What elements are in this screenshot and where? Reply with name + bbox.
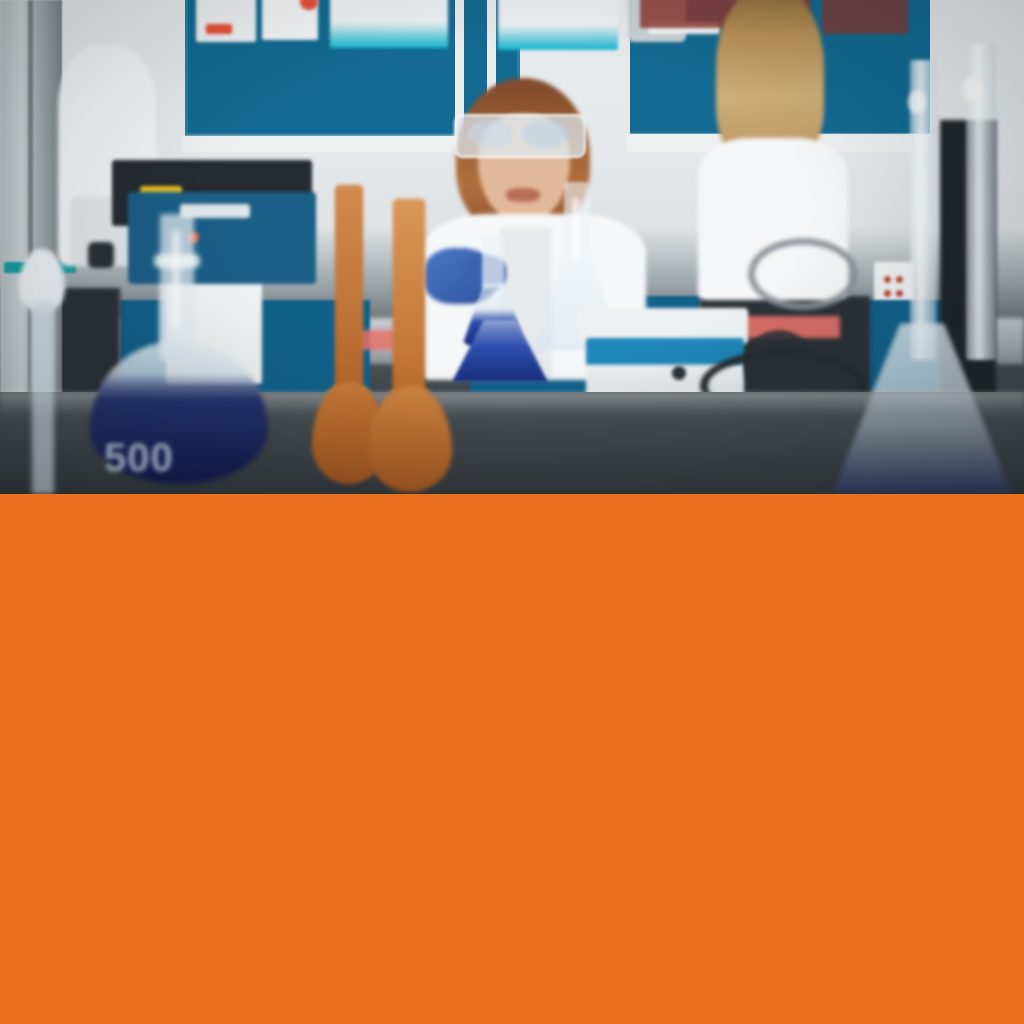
photo-vignette bbox=[0, 0, 1024, 494]
social-graphic-canvas: 500 bbox=[0, 0, 1024, 1024]
laboratory-photo: 500 bbox=[0, 0, 1024, 494]
orange-text-panel: THERE IS A FINE LINE BETWEEN PASSION AND… bbox=[0, 494, 1024, 1024]
